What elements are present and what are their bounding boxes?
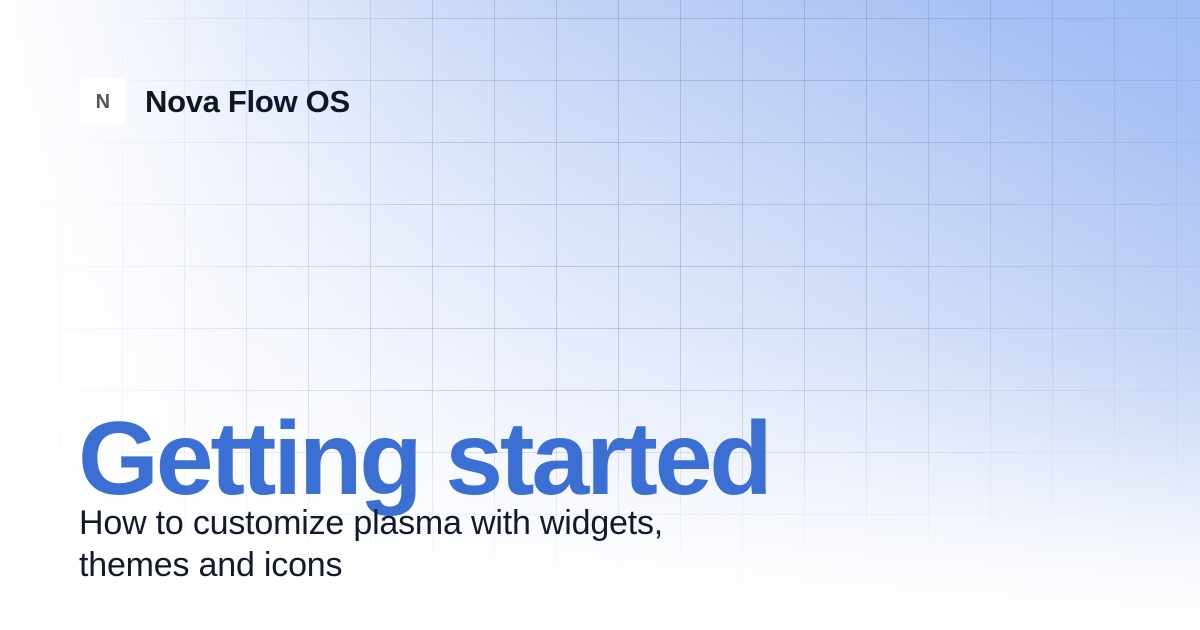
page-title: Getting started: [78, 407, 770, 511]
nova-logo-icon: N: [80, 78, 126, 125]
brand-lockup: N Nova Flow OS: [80, 78, 350, 125]
social-share-card: N Nova Flow OS Getting started How to cu…: [0, 0, 1200, 630]
card-content: N Nova Flow OS Getting started How to cu…: [0, 0, 1200, 630]
page-subtitle: How to customize plasma with widgets, th…: [79, 502, 779, 586]
brand-badge-letter: N: [96, 92, 111, 112]
brand-name: Nova Flow OS: [145, 86, 350, 117]
